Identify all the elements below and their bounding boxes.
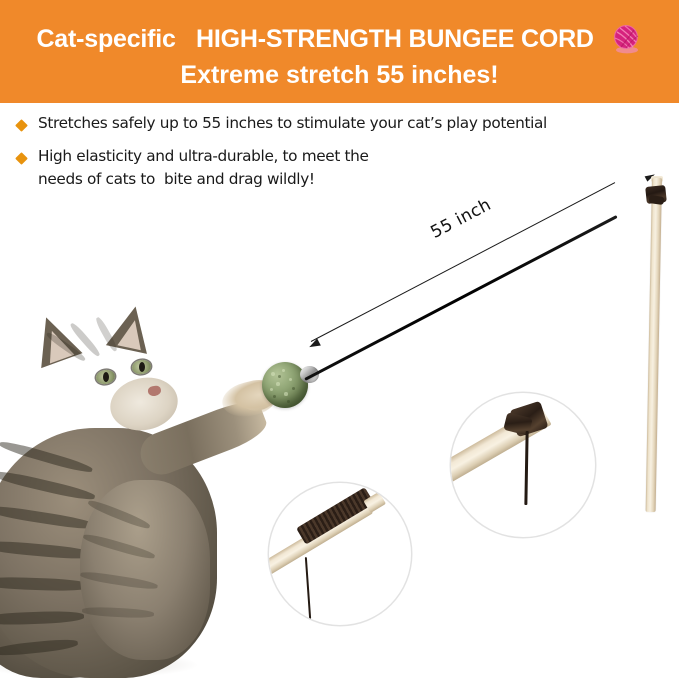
elastic-bungee-cord — [304, 215, 617, 381]
product-infographic: Cat-specific HIGH-STRENGTH BUNGEE CORD E… — [0, 0, 679, 678]
cat-photo — [0, 300, 292, 678]
detail-inset-knot — [450, 392, 596, 538]
dimension-label: 55 inch — [427, 195, 494, 243]
cat-pupil-right — [139, 362, 145, 372]
wooden-wand-stick — [646, 178, 662, 512]
product-scene: 55 inch — [0, 0, 679, 678]
inset-cord-tail — [524, 431, 528, 505]
inset-cord-tail — [305, 557, 312, 619]
detail-inset-cord-wrap — [268, 482, 412, 626]
cat-pupil-left — [103, 372, 109, 382]
cat-chest — [80, 480, 210, 660]
